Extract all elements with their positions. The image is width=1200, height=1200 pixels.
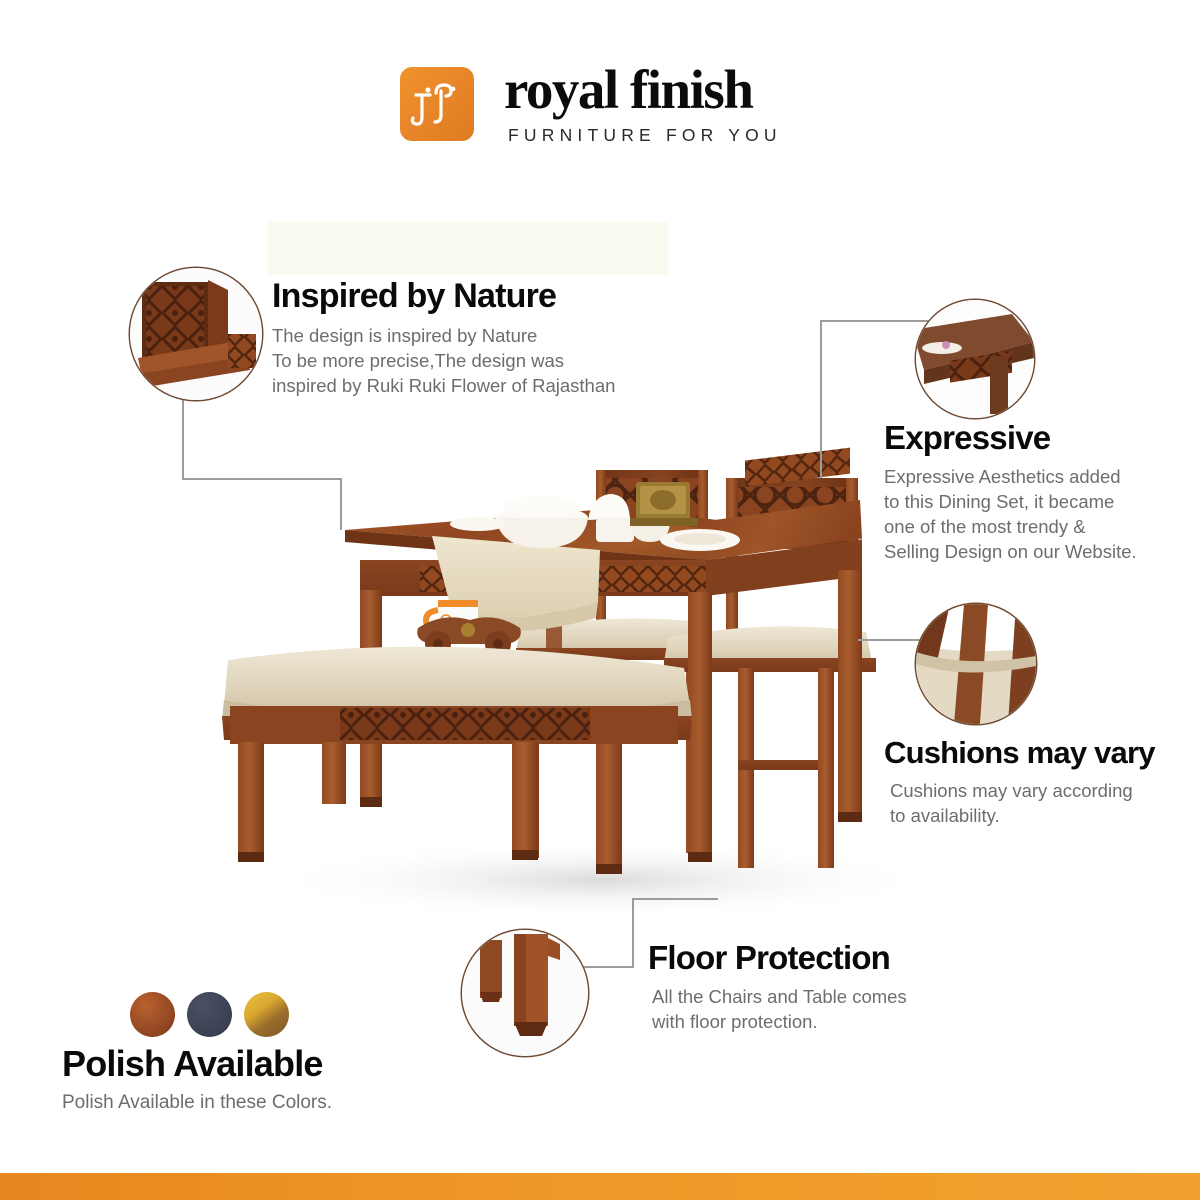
- connector-expressive-horizontal: [820, 320, 928, 322]
- polish-swatch-natural-golden[interactable]: [244, 992, 289, 1037]
- footer-accent-bar: [0, 1173, 1200, 1200]
- callout-title-cushions: Cushions may vary: [884, 734, 1155, 772]
- callout-cushions-may-vary: Cushions may vary Cushions may vary acco…: [884, 734, 1155, 828]
- callout-line: To be more precise,The design was: [272, 348, 615, 373]
- callout-line: The design is inspired by Nature: [272, 323, 615, 348]
- chair-left: [516, 470, 708, 858]
- wooden-toy-car: [417, 617, 521, 657]
- callout-line: All the Chairs and Table comes: [652, 984, 907, 1009]
- chair-right: [664, 478, 876, 868]
- callout-thumb-floor-protection[interactable]: [462, 930, 588, 1056]
- callout-line: inspired by Ruki Ruki Flower of Rajastha…: [272, 373, 615, 398]
- callout-body-cushions: Cushions may vary according to availabil…: [890, 778, 1155, 828]
- callout-body-expressive: Expressive Aesthetics added to this Dini…: [884, 464, 1137, 564]
- callout-title-floor: Floor Protection: [648, 938, 907, 978]
- callout-title-polish: Polish Available: [62, 1042, 332, 1086]
- svg-text:ro: ro: [452, 614, 463, 628]
- callout-line: Selling Design on our Website.: [884, 539, 1137, 564]
- branded-mug: ro: [426, 600, 478, 638]
- callout-thumb-cushions[interactable]: [916, 604, 1036, 724]
- connector-inspired-vertical-2: [340, 478, 342, 530]
- callout-line: to this Dining Set, it became: [884, 489, 1137, 514]
- rf-monogram-icon: [400, 67, 474, 141]
- heading-backdrop: [268, 222, 668, 275]
- brand-name: royal finish: [504, 62, 782, 118]
- callout-thumb-expressive[interactable]: [916, 300, 1034, 418]
- infographic-canvas: royal finish FURNITURE FOR YOU: [0, 0, 1200, 1200]
- connector-floor-horizontal-top: [632, 898, 718, 900]
- callout-body-polish: Polish Available in these Colors.: [62, 1090, 332, 1116]
- connector-inspired-horizontal: [182, 478, 342, 480]
- callout-title-inspired: Inspired by Nature: [272, 276, 615, 316]
- tableware: [450, 482, 740, 551]
- polish-swatch-dark-walnut[interactable]: [187, 992, 232, 1037]
- bench-with-cushion: [222, 647, 692, 874]
- callout-line: Cushions may vary according: [890, 778, 1155, 803]
- callout-line: one of the most trendy &: [884, 514, 1137, 539]
- callout-line: with floor protection.: [652, 1009, 907, 1034]
- table-runner: [432, 536, 600, 631]
- dining-table: [345, 448, 862, 862]
- brand-logo: royal finish FURNITURE FOR YOU: [400, 62, 782, 146]
- callout-inspired-by-nature: Inspired by Nature The design is inspire…: [272, 276, 615, 398]
- connector-expressive-vertical: [820, 320, 822, 478]
- callout-body-floor: All the Chairs and Table comes with floo…: [652, 984, 907, 1034]
- polish-swatch-group: [130, 992, 289, 1037]
- connector-inspired-vertical-1: [182, 392, 184, 480]
- callout-polish-available: Polish Available Polish Available in the…: [62, 1042, 332, 1116]
- brand-tagline: FURNITURE FOR YOU: [504, 125, 782, 146]
- callout-expressive: Expressive Expressive Aesthetics added t…: [884, 418, 1137, 564]
- callout-floor-protection: Floor Protection All the Chairs and Tabl…: [648, 938, 907, 1034]
- callout-title-expressive: Expressive: [884, 418, 1137, 458]
- callout-thumb-inspired-by-nature[interactable]: [130, 268, 262, 400]
- polish-swatch-honey-teak[interactable]: [130, 992, 175, 1037]
- callout-line: to availability.: [890, 803, 1155, 828]
- connector-floor-vertical: [632, 898, 634, 968]
- callout-line: Polish Available in these Colors.: [62, 1090, 332, 1116]
- callout-line: Expressive Aesthetics added: [884, 464, 1137, 489]
- callout-body-inspired: The design is inspired by Nature To be m…: [272, 323, 615, 398]
